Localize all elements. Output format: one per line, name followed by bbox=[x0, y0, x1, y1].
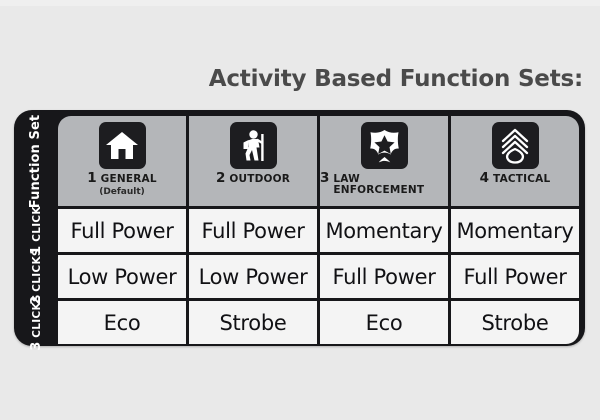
column-header-tactical[interactable]: 4 TACTICAL bbox=[451, 116, 579, 206]
cell-r1-c2[interactable]: Full Power bbox=[189, 209, 317, 252]
row-header-2-unit: CLICKS bbox=[31, 248, 43, 292]
column-header-law-name: LAW ENFORCEMENT bbox=[333, 174, 448, 195]
table-row: Eco Strobe Eco Strobe bbox=[58, 301, 579, 344]
table-grid: 1 GENERAL (Default) 2 OU bbox=[58, 116, 579, 340]
column-header-law-number: 3 bbox=[320, 172, 329, 186]
row-header-1-click: 1 CLICK bbox=[14, 209, 58, 252]
cell-r1-c4[interactable]: Momentary bbox=[451, 209, 579, 252]
cell-r1-c3[interactable]: Momentary bbox=[320, 209, 448, 252]
table-row: Full Power Full Power Momentary Momentar… bbox=[58, 209, 579, 252]
cell-r1-c1[interactable]: Full Power bbox=[58, 209, 186, 252]
column-header-outdoor-name: OUTDOOR bbox=[229, 174, 290, 185]
function-set-table: Function Set 1 CLICK 2 CLICKS 3 CLICKS bbox=[14, 110, 585, 346]
column-header-general[interactable]: 1 GENERAL (Default) bbox=[58, 116, 186, 206]
row-header-3-number: 3 bbox=[29, 342, 44, 351]
row-header-3-unit: CLICKS bbox=[31, 294, 43, 338]
row-header-rail: Function Set 1 CLICK 2 CLICKS 3 CLICKS bbox=[14, 110, 58, 346]
cell-r3-c3[interactable]: Eco bbox=[320, 301, 448, 344]
cell-r3-c2[interactable]: Strobe bbox=[189, 301, 317, 344]
cell-r2-c1[interactable]: Low Power bbox=[58, 255, 186, 298]
cell-r2-c2[interactable]: Low Power bbox=[189, 255, 317, 298]
house-icon bbox=[99, 122, 146, 169]
column-header-outdoor[interactable]: 2 OUTDOOR bbox=[189, 116, 317, 206]
cell-r2-c4[interactable]: Full Power bbox=[451, 255, 579, 298]
row-header-1-unit: CLICK bbox=[31, 206, 43, 242]
cell-r2-c3[interactable]: Full Power bbox=[320, 255, 448, 298]
column-header-general-sub: (Default) bbox=[99, 188, 145, 197]
column-header-law-enforcement[interactable]: 3 LAW ENFORCEMENT bbox=[320, 116, 448, 206]
page-title: Activity Based Function Sets: bbox=[209, 66, 583, 92]
cell-r3-c1[interactable]: Eco bbox=[58, 301, 186, 344]
column-header-general-number: 1 bbox=[87, 172, 96, 186]
row-header-2-clicks: 2 CLICKS bbox=[14, 255, 58, 298]
row-header-3-clicks: 3 CLICKS bbox=[14, 301, 58, 344]
hiker-icon bbox=[230, 122, 277, 169]
police-badge-icon bbox=[361, 122, 408, 169]
column-header-tactical-name: TACTICAL bbox=[493, 174, 550, 185]
column-header-outdoor-number: 2 bbox=[216, 172, 225, 186]
column-header-general-name: GENERAL bbox=[101, 174, 157, 185]
rail-title-label: Function Set bbox=[29, 114, 44, 207]
top-edge-strip bbox=[0, 0, 600, 6]
table-row: Low Power Low Power Full Power Full Powe… bbox=[58, 255, 579, 298]
cell-r3-c4[interactable]: Strobe bbox=[451, 301, 579, 344]
table-header-row: 1 GENERAL (Default) 2 OU bbox=[58, 116, 579, 206]
column-header-tactical-number: 4 bbox=[480, 172, 489, 186]
rail-title-function-set: Function Set bbox=[14, 116, 58, 206]
chevron-rank-icon bbox=[492, 122, 539, 169]
